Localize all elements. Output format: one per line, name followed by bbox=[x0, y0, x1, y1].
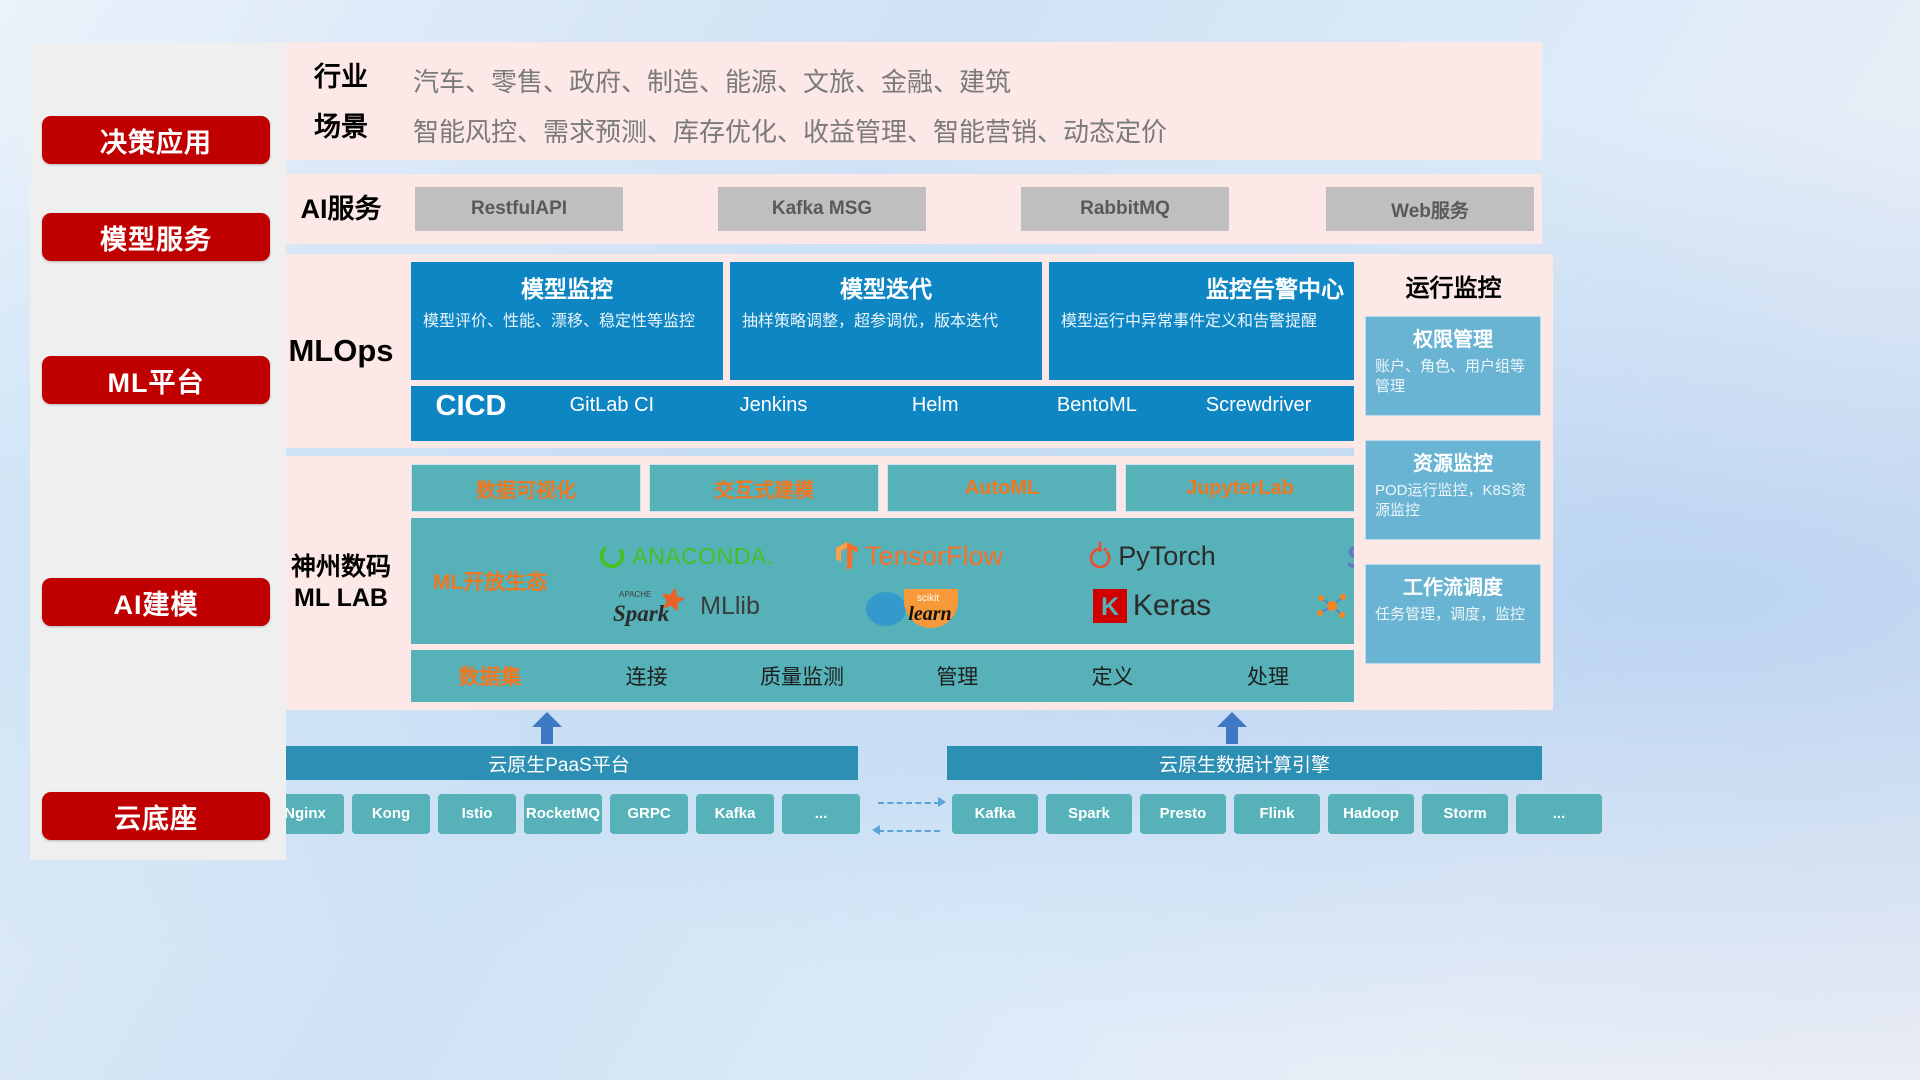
paas-tag-more[interactable]: ... bbox=[782, 794, 860, 834]
logo-label: MLlib bbox=[700, 592, 760, 621]
card-title: 模型监控 bbox=[423, 270, 711, 304]
industry-label: 行业 bbox=[285, 58, 397, 96]
spark-icon: APACHE Spark bbox=[611, 583, 695, 629]
data-engine-header: 云原生数据计算引擎 bbox=[947, 746, 1542, 780]
tab-label: AutoML bbox=[965, 477, 1039, 500]
rail-label: 决策应用 bbox=[100, 121, 212, 160]
cicd-item-bentoml[interactable]: BentoML bbox=[1016, 386, 1178, 416]
ml-lab-band: 神州数码 ML LAB 数据可视化 交互式建模 AutoML JupyterLa… bbox=[252, 456, 1542, 710]
monitoring-card-workflow[interactable]: 工作流调度 任务管理，调度，监控 bbox=[1365, 564, 1541, 664]
chip-label: Kafka MSG bbox=[772, 198, 872, 220]
data-tag-presto[interactable]: Presto bbox=[1140, 794, 1226, 834]
card-title: 模型迭代 bbox=[742, 270, 1030, 304]
mlops-card-model-monitoring[interactable]: 模型监控 模型评价、性能、漂移、稳定性等监控 bbox=[411, 262, 723, 380]
rail-item-model-service[interactable]: 模型服务 bbox=[42, 213, 270, 261]
tab-label: JupyterLab bbox=[1186, 477, 1294, 500]
industry-list: 汽车、零售、政府、制造、能源、文旅、金融、建筑 bbox=[413, 62, 1011, 99]
dataset-item-connect[interactable]: 连接 bbox=[569, 661, 724, 691]
runtime-monitoring-title: 运行监控 bbox=[1354, 254, 1553, 303]
link-arrow-left bbox=[872, 825, 880, 835]
card-desc: 抽样策略调整，超参调优，版本迭代 bbox=[742, 311, 1030, 332]
cicd-item-jenkins[interactable]: Jenkins bbox=[693, 386, 855, 416]
data-tag-spark[interactable]: Spark bbox=[1046, 794, 1132, 834]
keras-icon: K bbox=[1092, 588, 1128, 624]
data-engine-header-label: 云原生数据计算引擎 bbox=[1159, 750, 1330, 777]
chip-label: Web服务 bbox=[1391, 196, 1469, 223]
rail-label: ML平台 bbox=[108, 361, 205, 400]
ai-service-chip-kafka-msg[interactable]: Kafka MSG bbox=[718, 187, 926, 231]
logo-spark-mllib: APACHE Spark MLlib bbox=[569, 583, 802, 629]
tab-label: 数据可视化 bbox=[476, 474, 576, 503]
card-desc: 账户、角色、用户组等管理 bbox=[1375, 357, 1531, 397]
card-title: 资源监控 bbox=[1375, 447, 1531, 476]
logo-label: TensorFlow bbox=[865, 541, 1003, 572]
scenario-list: 智能风控、需求预测、库存优化、收益管理、智能营销、动态定价 bbox=[413, 112, 1167, 149]
cicd-item-helm[interactable]: Helm bbox=[854, 386, 1016, 416]
decision-application-band: 行业 汽车、零售、政府、制造、能源、文旅、金融、建筑 场景 智能风控、需求预测、… bbox=[252, 42, 1542, 160]
link-dashed-left bbox=[878, 830, 940, 832]
tensorflow-icon bbox=[834, 541, 860, 571]
tag-label: Presto bbox=[1160, 806, 1207, 822]
card-desc: 任务管理，调度，监控 bbox=[1375, 605, 1531, 625]
svg-text:Spark: Spark bbox=[613, 601, 670, 626]
runtime-monitoring-column: 运行监控 权限管理 账户、角色、用户组等管理 资源监控 POD运行监控，K8S资… bbox=[1354, 254, 1553, 710]
dataset-item-quality[interactable]: 质量监测 bbox=[724, 661, 879, 691]
tag-label: Flink bbox=[1259, 806, 1294, 822]
paas-tag-istio[interactable]: Istio bbox=[438, 794, 516, 834]
card-title: 工作流调度 bbox=[1375, 571, 1531, 600]
ai-service-chip-web-service[interactable]: Web服务 bbox=[1326, 187, 1534, 231]
lab-tab-automl[interactable]: AutoML bbox=[887, 464, 1117, 512]
tag-label: Storm bbox=[1443, 806, 1486, 822]
tag-label: Istio bbox=[462, 806, 493, 822]
ml-lab-label-line1: 神州数码 bbox=[291, 552, 391, 583]
ml-ecosystem-title: ML开放生态 bbox=[411, 566, 569, 596]
rail-item-ai-modeling[interactable]: AI建模 bbox=[42, 578, 270, 626]
chip-label: RabbitMQ bbox=[1080, 198, 1170, 220]
card-desc: POD运行监控，K8S资源监控 bbox=[1375, 481, 1531, 521]
dataset-item-process[interactable]: 处理 bbox=[1190, 661, 1345, 691]
paas-tag-kafka[interactable]: Kafka bbox=[696, 794, 774, 834]
tag-label: RocketMQ bbox=[526, 806, 600, 822]
cicd-title: CICD bbox=[411, 386, 531, 423]
ai-service-band: AI服务 RestfulAPI Kafka MSG RabbitMQ Web服务 bbox=[252, 174, 1542, 244]
lab-tab-jupyterlab[interactable]: JupyterLab bbox=[1125, 464, 1355, 512]
tab-label: 交互式建模 bbox=[714, 474, 814, 503]
svg-text:learn: learn bbox=[908, 603, 951, 625]
paas-tag-grpc[interactable]: GRPC bbox=[610, 794, 688, 834]
arrow-up-paas bbox=[530, 712, 564, 744]
ml-ecosystem-box: ML开放生态 ANACONDA. bbox=[411, 518, 1501, 644]
svg-text:APACHE: APACHE bbox=[619, 590, 651, 599]
logo-scikit-learn: scikit learn bbox=[802, 581, 1035, 631]
networkx-icon bbox=[1315, 589, 1349, 623]
logo-label: ANACONDA. bbox=[632, 543, 773, 570]
ml-lab-label-line2: ML LAB bbox=[291, 583, 391, 614]
logo-label: Keras bbox=[1133, 589, 1211, 623]
tag-label: GRPC bbox=[627, 806, 670, 822]
layer-rail: 决策应用 模型服务 ML平台 AI建模 云底座 bbox=[30, 42, 286, 860]
rail-item-ml-platform[interactable]: ML平台 bbox=[42, 356, 270, 404]
mlops-card-model-iteration[interactable]: 模型迭代 抽样策略调整，超参调优，版本迭代 bbox=[730, 262, 1042, 380]
paas-tag-kong[interactable]: Kong bbox=[352, 794, 430, 834]
rail-label: 模型服务 bbox=[100, 218, 212, 257]
link-arrow-right bbox=[938, 797, 946, 807]
ai-service-label: AI服务 bbox=[279, 174, 403, 244]
tag-label: Spark bbox=[1068, 806, 1110, 822]
tag-label: Nginx bbox=[284, 806, 326, 822]
tag-label: ... bbox=[815, 806, 828, 822]
anaconda-icon bbox=[597, 541, 627, 571]
tag-label: Hadoop bbox=[1343, 806, 1399, 822]
data-tag-flink[interactable]: Flink bbox=[1234, 794, 1320, 834]
rail-label: 云底座 bbox=[114, 797, 198, 836]
ml-lab-label: 神州数码 ML LAB bbox=[271, 456, 411, 710]
rail-label: AI建模 bbox=[114, 583, 199, 622]
cicd-bar: CICD GitLab CI Jenkins Helm BentoML Scre… bbox=[411, 386, 1501, 441]
scikit-learn-icon: scikit learn bbox=[860, 581, 978, 631]
dataset-item-manage[interactable]: 管理 bbox=[880, 661, 1035, 691]
cicd-item-screwdriver[interactable]: Screwdriver bbox=[1178, 386, 1340, 416]
tag-label: Kong bbox=[372, 806, 410, 822]
svg-text:K: K bbox=[1101, 593, 1119, 621]
data-tag-kafka[interactable]: Kafka bbox=[952, 794, 1038, 834]
arrow-up-data-engine bbox=[1215, 712, 1249, 744]
rail-item-cloud-base[interactable]: 云底座 bbox=[42, 792, 270, 840]
paas-header-label: 云原生PaaS平台 bbox=[488, 750, 629, 777]
paas-tag-rocketmq[interactable]: RocketMQ bbox=[524, 794, 602, 834]
ai-service-chip-restfulapi[interactable]: RestfulAPI bbox=[415, 187, 623, 231]
data-tag-more[interactable]: ... bbox=[1516, 794, 1602, 834]
card-desc: 模型评价、性能、漂移、稳定性等监控 bbox=[423, 311, 711, 332]
scenario-label: 场景 bbox=[285, 108, 397, 146]
logo-tensorflow: TensorFlow bbox=[802, 541, 1035, 572]
link-dashed-right bbox=[878, 802, 940, 804]
pytorch-icon bbox=[1087, 541, 1113, 571]
paas-header: 云原生PaaS平台 bbox=[260, 746, 858, 780]
mlops-label: MLOps bbox=[277, 254, 405, 448]
ai-service-chip-rabbitmq[interactable]: RabbitMQ bbox=[1021, 187, 1229, 231]
dataset-bar: 数据集 连接 质量监测 管理 定义 处理 加载 bbox=[411, 650, 1501, 702]
lab-tab-data-visualization[interactable]: 数据可视化 bbox=[411, 464, 641, 512]
tag-label: Kafka bbox=[715, 806, 756, 822]
data-tag-hadoop[interactable]: Hadoop bbox=[1328, 794, 1414, 834]
mlops-band: MLOps 模型监控 模型评价、性能、漂移、稳定性等监控 模型迭代 抽样策略调整… bbox=[252, 254, 1542, 448]
logo-keras: K Keras bbox=[1035, 588, 1268, 624]
card-title: 权限管理 bbox=[1375, 323, 1531, 352]
data-tag-storm[interactable]: Storm bbox=[1422, 794, 1508, 834]
rail-item-decision-app[interactable]: 决策应用 bbox=[42, 116, 270, 164]
monitoring-card-resource[interactable]: 资源监控 POD运行监控，K8S资源监控 bbox=[1365, 440, 1541, 540]
chip-label: RestfulAPI bbox=[471, 198, 567, 220]
cicd-item-gitlab-ci[interactable]: GitLab CI bbox=[531, 386, 693, 416]
logo-anaconda: ANACONDA. bbox=[569, 541, 802, 571]
monitoring-card-permission[interactable]: 权限管理 账户、角色、用户组等管理 bbox=[1365, 316, 1541, 416]
tag-label: Kafka bbox=[975, 806, 1016, 822]
lab-tab-interactive-modeling[interactable]: 交互式建模 bbox=[649, 464, 879, 512]
tag-label: ... bbox=[1553, 806, 1566, 822]
logo-label: PyTorch bbox=[1118, 541, 1216, 572]
dataset-item-define[interactable]: 定义 bbox=[1035, 661, 1190, 691]
logo-pytorch: PyTorch bbox=[1035, 541, 1268, 572]
dataset-title: 数据集 bbox=[411, 661, 569, 691]
